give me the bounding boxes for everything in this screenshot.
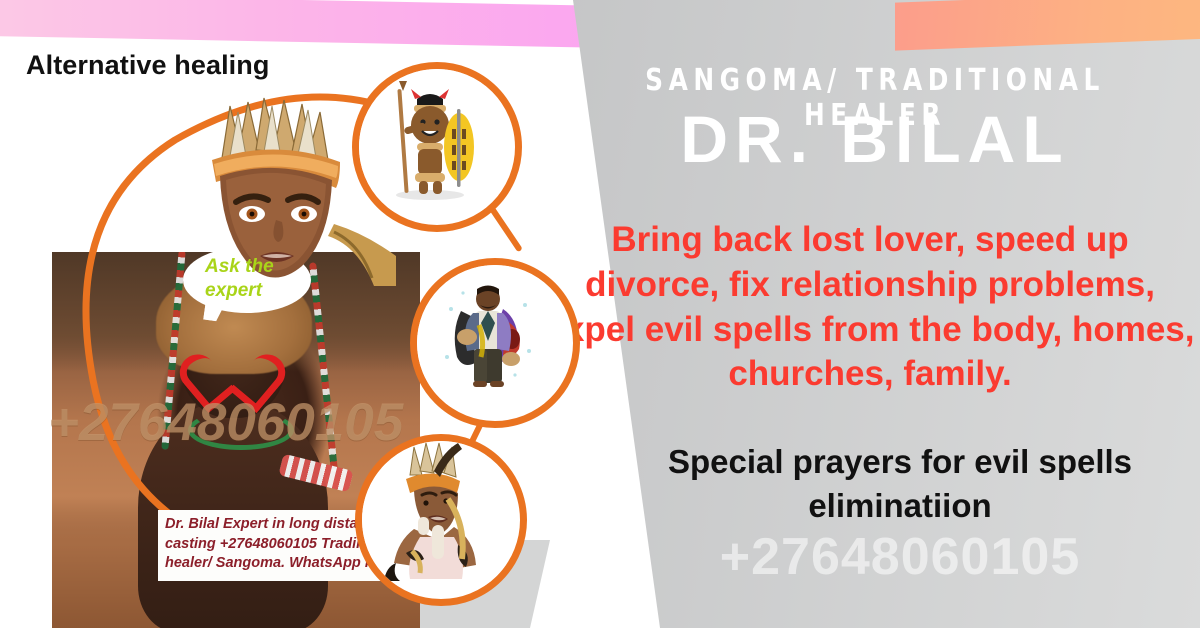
services-red-copy: Bring back lost lover, speed up divorce,… [540,218,1200,397]
pink-accent-bar [0,0,600,48]
speech-bubble-text: Ask the expert [205,255,315,303]
photo-watermark-phone: +27648060105 [48,392,403,453]
circle-photo-traditional-healer [410,258,580,428]
page-title: DR. BILAL [560,105,1190,174]
special-prayers-copy: Special prayers for evil spells eliminat… [600,440,1200,527]
alternative-healing-heading: Alternative healing [26,50,269,81]
traditional-healer-icon [417,265,559,407]
kneeling-warrior-icon [362,441,506,585]
advertisement-banner: +27648060105 Ask the expert Dr. Bilal Ex… [0,0,1200,628]
ghost-phone-number: +27648060105 [600,527,1200,587]
cartoon-zulu-warrior-icon [359,69,501,211]
circle-photo-kneeling-warrior [355,434,527,606]
circle-photo-cartoon-zulu-warrior [352,62,522,232]
